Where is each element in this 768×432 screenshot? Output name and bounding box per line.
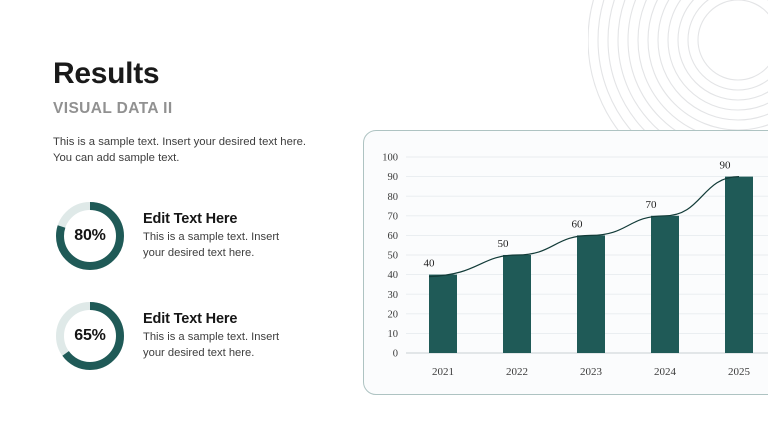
svg-text:60: 60 (388, 231, 399, 242)
chart-y-axis-labels: 0102030405060708090100 (382, 153, 398, 360)
svg-text:90: 90 (720, 160, 732, 172)
donut-value-1: 65% (53, 299, 127, 373)
svg-text:2023: 2023 (580, 366, 603, 378)
page-title: Results (53, 58, 343, 90)
svg-text:90: 90 (388, 172, 399, 183)
svg-text:40: 40 (424, 258, 436, 270)
svg-text:80: 80 (388, 192, 399, 203)
donut-value-0: 80% (53, 199, 127, 273)
donut-chart-0: 80% (53, 199, 127, 273)
svg-text:70: 70 (388, 211, 399, 222)
svg-text:2024: 2024 (654, 366, 677, 378)
chart-card: 0102030405060708090100 4050607090 202120… (363, 130, 768, 395)
stat-row: 65% Edit Text Here This is a sample text… (53, 299, 343, 373)
stat-row: 80% Edit Text Here This is a sample text… (53, 199, 343, 273)
stat-heading-1: Edit Text Here (143, 311, 303, 327)
stat-text-1: Edit Text Here This is a sample text. In… (143, 310, 303, 362)
svg-text:0: 0 (393, 349, 398, 360)
intro-paragraph: This is a sample text. Insert your desir… (53, 134, 311, 167)
svg-text:2025: 2025 (728, 366, 751, 378)
svg-text:100: 100 (382, 153, 398, 164)
page-subtitle: VISUAL DATA II (53, 100, 343, 118)
stat-body-0: This is a sample text. Insert your desir… (143, 230, 303, 262)
svg-text:20: 20 (388, 309, 399, 320)
chart-x-axis-labels: 20212022202320242025 (432, 366, 751, 378)
donut-chart-1: 65% (53, 299, 127, 373)
header-block: Results VISUAL DATA II This is a sample … (53, 58, 343, 166)
stat-heading-0: Edit Text Here (143, 211, 303, 227)
svg-text:50: 50 (388, 251, 399, 262)
bar-chart: 0102030405060708090100 4050607090 202120… (364, 131, 768, 396)
stat-body-1: This is a sample text. Insert your desir… (143, 330, 303, 362)
svg-text:60: 60 (572, 218, 584, 230)
svg-text:10: 10 (388, 329, 399, 340)
svg-text:2022: 2022 (506, 366, 528, 378)
svg-text:40: 40 (388, 270, 399, 281)
svg-text:70: 70 (646, 199, 658, 211)
svg-text:30: 30 (388, 290, 399, 301)
stat-text-0: Edit Text Here This is a sample text. In… (143, 210, 303, 262)
svg-text:50: 50 (498, 238, 510, 250)
svg-text:2021: 2021 (432, 366, 454, 378)
